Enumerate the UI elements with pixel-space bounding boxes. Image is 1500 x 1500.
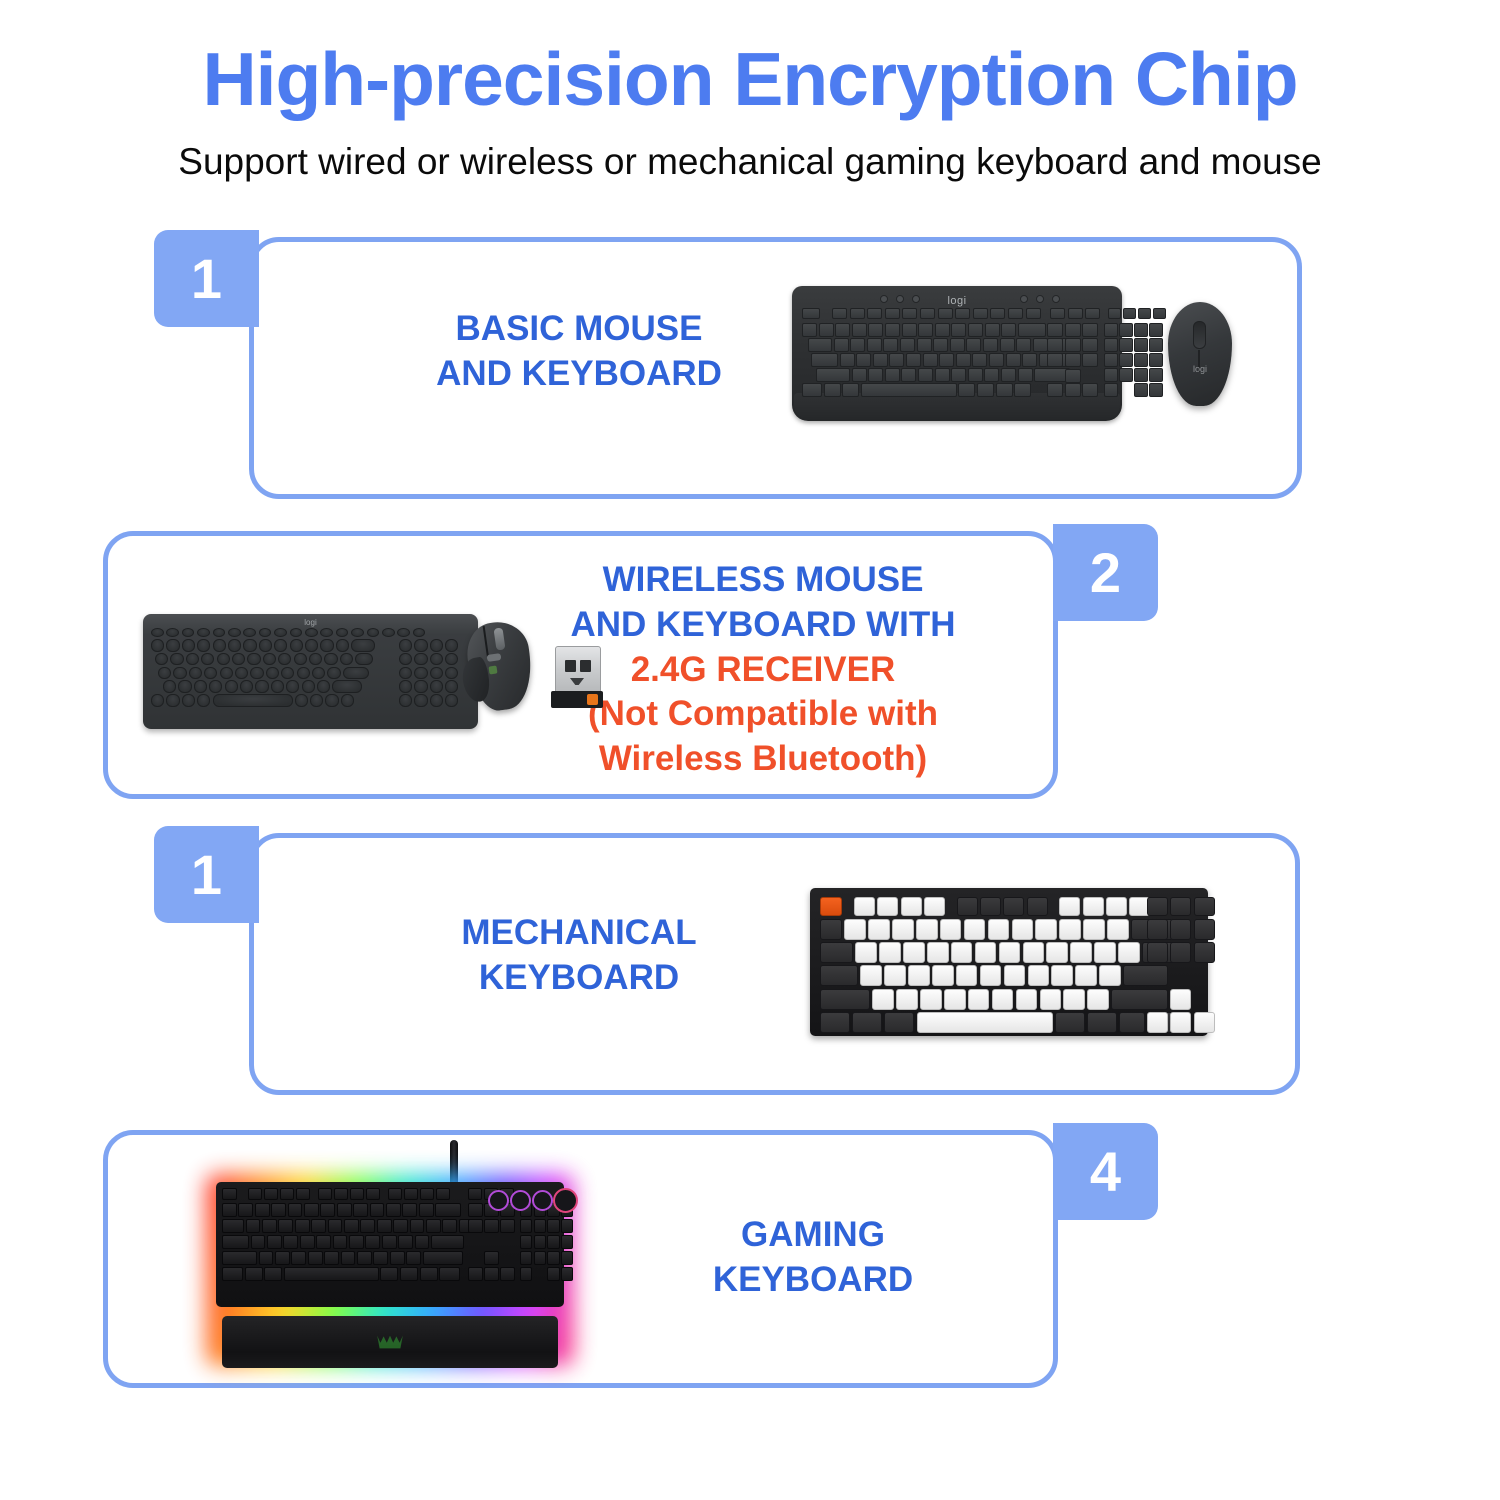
keyboard-key: [178, 680, 191, 693]
keyboard-key: [951, 942, 973, 963]
keyboard-key: [1106, 897, 1127, 916]
keyboard-key: [266, 667, 279, 680]
mechanical-keyboard-image: [810, 888, 1208, 1036]
keyboard-key: [824, 383, 841, 397]
keyboard-key: [341, 694, 354, 707]
feature-card-gaming: GAMING KEYBOARD 4: [103, 1130, 1058, 1388]
logi-wordmark: logi: [947, 295, 966, 307]
keyboard-key: [1118, 942, 1140, 963]
usb-contact-slot: [580, 660, 591, 672]
keyboard-key: [351, 639, 375, 652]
keyboard-key: [1119, 368, 1133, 382]
keyboard-key: [924, 897, 945, 916]
keyboard-key: [382, 628, 395, 637]
keyboard-key: [1170, 897, 1191, 916]
keyboard-key: [917, 338, 932, 352]
keyboard-key: [935, 368, 950, 382]
keyboard-key: [1147, 897, 1168, 916]
keyboard-key: [222, 1251, 257, 1265]
keyboard-key: [977, 383, 994, 397]
keyboard-key: [834, 338, 849, 352]
keyboard-key: [1035, 919, 1057, 940]
keyboard-key: [217, 653, 230, 666]
keyboard-key: [468, 1267, 483, 1281]
basic-keyboard-image: logi: [792, 286, 1122, 421]
keyboard-key: [861, 383, 957, 397]
keyboard-key: [1170, 942, 1191, 963]
keyboard-key: [275, 1251, 290, 1265]
keyboard-key: [903, 942, 925, 963]
keyboard-key: [410, 1219, 425, 1233]
keyboard-key: [996, 383, 1013, 397]
keyboard-key: [999, 942, 1021, 963]
keyboard-key: [951, 368, 966, 382]
keyboard-key: [1068, 308, 1083, 319]
keyboard-key: [393, 1219, 408, 1233]
keyboard-key: [349, 1235, 364, 1249]
keyboard-key: [274, 639, 287, 652]
mouse-scroll-wheel: [1193, 321, 1206, 349]
keyboard-key: [885, 308, 900, 319]
keyboard-key: [414, 653, 427, 666]
keyboard-key: [855, 942, 877, 963]
card-2-label-line-2: AND KEYBOARD WITH: [563, 603, 963, 648]
keyboard-key: [419, 1203, 434, 1217]
keyboard-key: [885, 368, 900, 382]
card-1-label: BASIC MOUSE AND KEYBOARD: [364, 307, 794, 397]
keyboard-key: [1016, 338, 1031, 352]
razer-logo-icon: [373, 1334, 407, 1350]
keyboard-key: [1055, 1012, 1085, 1033]
usb-connector-shell: [555, 646, 601, 694]
keyboard-key: [889, 353, 904, 367]
keyboard-key: [406, 1251, 421, 1265]
keyboard-key: [430, 680, 443, 693]
keyboard-key: [1194, 942, 1215, 963]
card-4-label-line-1: GAMING: [613, 1213, 1013, 1258]
keyboard-key: [305, 639, 318, 652]
keyboard-key: [445, 694, 458, 707]
keyboard-key: [1040, 989, 1062, 1010]
keyboard-key: [400, 1267, 418, 1281]
wireless-mouse-image: [463, 618, 541, 714]
keyboard-key: [334, 1188, 348, 1200]
keyboard-key: [370, 1203, 385, 1217]
keyboard-key: [1104, 383, 1118, 397]
keyboard-key: [430, 639, 443, 652]
keyboard-key: [980, 965, 1002, 986]
keyboard-key: [816, 368, 850, 382]
keyboard-key: [1123, 308, 1136, 319]
keyboard-key: [343, 667, 369, 680]
card-4-label: GAMING KEYBOARD: [613, 1213, 1013, 1303]
keyboard-key: [972, 353, 987, 367]
keyboard-key: [1001, 368, 1016, 382]
usb-receiver-image: [551, 646, 603, 708]
keyboard-key: [271, 680, 284, 693]
keyboard-key: [1104, 338, 1118, 352]
keyboard-key: [189, 667, 202, 680]
keyboard-key: [852, 323, 867, 337]
keyboard-key: [390, 1251, 405, 1265]
keyboard-key: [808, 338, 832, 352]
keyboard-key: [442, 1219, 457, 1233]
keyboard-key: [1104, 353, 1118, 367]
keyboard-key: [324, 653, 337, 666]
keyboard-key: [222, 1203, 237, 1217]
keyboard-key: [958, 383, 975, 397]
keyboard-key: [435, 1203, 461, 1217]
keyboard-key: [246, 1219, 261, 1233]
keyboard-key: [166, 639, 179, 652]
keyboard-key: [819, 323, 834, 337]
keyboard-key: [1065, 369, 1081, 383]
keyboard-key: [399, 639, 412, 652]
volume-dial-icon: [553, 1188, 578, 1213]
keyboard-key: [377, 1219, 392, 1233]
keyboard-key: [885, 323, 900, 337]
keyboard-key: [802, 383, 822, 397]
keyboard-key: [1065, 323, 1081, 337]
card-2-badge-number: 2: [1090, 545, 1121, 601]
keyboard-key: [243, 628, 256, 637]
keyboard-key: [350, 1188, 364, 1200]
feature-card-wireless: WIRELESS MOUSE AND KEYBOARD WITH 2.4G RE…: [103, 531, 1058, 799]
keyboard-key: [968, 989, 990, 1010]
indicator-led: [896, 295, 904, 303]
keyboard-key: [1170, 919, 1191, 940]
keyboard-key: [468, 1188, 482, 1200]
keyboard-key: [290, 628, 303, 637]
keyboard-key: [225, 680, 238, 693]
keyboard-key: [426, 1219, 441, 1233]
keyboard-key: [990, 308, 1005, 319]
card-4-number-badge: 4: [1053, 1123, 1158, 1220]
keyboard-key: [344, 1219, 359, 1233]
keyboard-key: [561, 1251, 573, 1265]
keyboard-key: [1001, 323, 1016, 337]
keyboard-key: [353, 1203, 368, 1217]
keyboard-key: [151, 628, 164, 637]
keyboard-key: [900, 338, 915, 352]
keyboard-key: [547, 1219, 559, 1233]
keyboard-key: [297, 667, 310, 680]
feature-card-basic: BASIC MOUSE AND KEYBOARD logi logi 1: [249, 237, 1302, 499]
keyboard-key: [1194, 897, 1215, 916]
keyboard-key: [247, 653, 260, 666]
keyboard-key: [1134, 323, 1148, 337]
keyboard-key: [854, 897, 875, 916]
keyboard-key: [197, 694, 210, 707]
keyboard-key: [439, 1267, 460, 1281]
keyboard-key: [318, 1188, 332, 1200]
keyboard-key: [852, 1012, 882, 1033]
mouse-shell: [1168, 302, 1232, 406]
keyboard-key: [992, 989, 1014, 1010]
keyboard-key: [966, 338, 981, 352]
keyboard-key: [877, 897, 898, 916]
keyboard-key: [520, 1235, 532, 1249]
keyboard-key: [896, 989, 918, 1010]
keyboard-key: [245, 1267, 263, 1281]
keyboard-key: [228, 628, 241, 637]
keyboard-key: [305, 628, 318, 637]
keyboard-key: [917, 1012, 1053, 1033]
keyboard-key: [956, 353, 971, 367]
card-2-label-line-1: WIRELESS MOUSE: [563, 558, 963, 603]
keyboard-key: [366, 1188, 380, 1200]
keyboard-key: [1099, 965, 1121, 986]
keyboard-key: [884, 1012, 914, 1033]
card-3-label-line-2: KEYBOARD: [364, 956, 794, 1001]
keyboard-key: [547, 1235, 559, 1249]
keyboard-key: [520, 1219, 532, 1233]
keyboard-key: [534, 1235, 546, 1249]
keyboard-key: [1194, 919, 1215, 940]
keyboard-key: [304, 1203, 319, 1217]
keyboard-key: [920, 308, 935, 319]
keyboard-key: [1070, 942, 1092, 963]
keyboard-key: [983, 338, 998, 352]
logi-wordmark: logi: [1193, 364, 1207, 374]
indicator-led: [1036, 295, 1044, 303]
keyboard-key: [267, 1235, 282, 1249]
keyboard-key: [802, 323, 817, 337]
card-4-label-line-2: KEYBOARD: [613, 1258, 1013, 1303]
card-2-label-line-5: Wireless Bluetooth): [563, 737, 963, 782]
keyboard-key: [1149, 338, 1163, 352]
keyboard-key: [902, 323, 917, 337]
keyboard-key: [1033, 338, 1048, 352]
keyboard-key: [194, 680, 207, 693]
keyboard-key: [1075, 965, 1097, 986]
keyboard-key: [1085, 308, 1100, 319]
keyboard-key: [355, 653, 373, 666]
usb-contact-slot: [565, 660, 576, 672]
keyboard-key: [430, 694, 443, 707]
keyboard-key: [1083, 897, 1104, 916]
keyboard-key: [1119, 353, 1133, 367]
keyboard-key: [820, 919, 842, 940]
keyboard-key: [868, 323, 883, 337]
keyboard-key: [1147, 942, 1168, 963]
keyboard-key: [980, 897, 1001, 916]
card-3-number-badge: 1: [154, 826, 259, 923]
keyboard-key: [879, 942, 901, 963]
keyboard-key: [1046, 942, 1068, 963]
keyboard-key: [1050, 308, 1065, 319]
keyboard-key: [968, 323, 983, 337]
keyboard-key: [1082, 383, 1098, 397]
keyboard-key: [1014, 383, 1031, 397]
keyboard-key: [284, 1267, 379, 1281]
keyboard-key: [1087, 989, 1109, 1010]
keyboard-key: [1149, 323, 1163, 337]
keyboard-key: [939, 353, 954, 367]
keyboard-key: [255, 680, 268, 693]
keyboard-key: [337, 1203, 352, 1217]
keyboard-key: [300, 1235, 315, 1249]
keyboard-key: [884, 965, 906, 986]
keyboard-key: [1004, 965, 1026, 986]
indicator-led: [912, 295, 920, 303]
keyboard-key: [357, 1251, 372, 1265]
keyboard-key: [414, 680, 427, 693]
keyboard-key: [901, 368, 916, 382]
media-button-icon: [488, 1190, 509, 1211]
keyboard-key: [867, 308, 882, 319]
keyboard-key: [250, 667, 263, 680]
indicator-led: [880, 295, 888, 303]
keyboard-key: [985, 323, 1000, 337]
keyboard-key: [484, 1267, 499, 1281]
keyboard-key: [1134, 338, 1148, 352]
keyboard-key: [320, 639, 333, 652]
keyboard-key: [1047, 323, 1063, 337]
keyboard-key: [1000, 338, 1015, 352]
keyboard-key: [832, 308, 847, 319]
keyboard-key: [399, 694, 412, 707]
keyboard-key: [302, 680, 315, 693]
keyboard-key: [1016, 989, 1038, 1010]
keyboard-key: [182, 639, 195, 652]
keyboard-key: [238, 1203, 253, 1217]
keyboard-key: [197, 628, 210, 637]
keyboard-key: [320, 1203, 335, 1217]
keyboard-key: [1170, 989, 1191, 1010]
keyboard-key: [920, 989, 942, 1010]
keyboard-key: [1123, 965, 1168, 986]
keyboard-key: [918, 368, 933, 382]
keyboard-key: [867, 338, 882, 352]
keyboard-key: [1119, 1012, 1145, 1033]
keyboard-key: [197, 639, 210, 652]
keyboard-key: [248, 1188, 262, 1200]
keyboard-key: [950, 338, 965, 352]
keyboard-key: [500, 1267, 515, 1281]
media-button-icon: [532, 1190, 553, 1211]
keyboard-key: [222, 1219, 244, 1233]
keyboard-key: [856, 353, 871, 367]
keyboard-key: [984, 368, 999, 382]
keyboard-key: [1051, 965, 1073, 986]
keyboard-key: [561, 1235, 573, 1249]
keyboard-key: [561, 1219, 573, 1233]
keyboard-key: [316, 1235, 331, 1249]
keyboard-key: [820, 897, 842, 916]
keyboard-key: [1018, 323, 1046, 337]
keyboard-key: [1018, 368, 1033, 382]
keyboard-key: [850, 308, 865, 319]
card-2-label-line-3: 2.4G RECEIVER: [563, 648, 963, 693]
keyboard-key: [380, 1267, 398, 1281]
keyboard-key: [255, 1203, 270, 1217]
keyboard-key: [228, 639, 241, 652]
keyboard-key: [500, 1219, 515, 1233]
keyboard-key: [901, 897, 922, 916]
keyboard-key: [404, 1188, 418, 1200]
keyboard-key: [327, 667, 340, 680]
keyboard-key: [1026, 308, 1041, 319]
keyboard-key: [850, 338, 865, 352]
keyboard-key: [1094, 942, 1116, 963]
card-1-label-line-1: BASIC MOUSE: [364, 307, 794, 352]
keyboard-key: [1047, 338, 1063, 352]
keyboard-key: [1065, 338, 1081, 352]
keyboard-key: [278, 1219, 293, 1233]
keyboard-key: [923, 353, 938, 367]
keyboard-key: [251, 1235, 266, 1249]
keyboard-key: [1108, 308, 1121, 319]
keyboard-key: [290, 639, 303, 652]
keyboard-key: [868, 368, 883, 382]
keyboard-key: [1149, 383, 1163, 397]
basic-mouse-image: logi: [1164, 302, 1236, 406]
keyboard-key: [468, 1203, 483, 1217]
keyboard-key: [280, 1188, 294, 1200]
card-1-badge-number: 1: [191, 251, 222, 307]
keyboard-key: [844, 919, 866, 940]
keyboard-key: [1194, 1012, 1215, 1033]
keyboard-key: [423, 1251, 463, 1265]
keyboard-key: [415, 1235, 430, 1249]
keyboard-key: [382, 1235, 397, 1249]
keyboard-key: [365, 1235, 380, 1249]
keyboard-key: [935, 323, 950, 337]
keyboard-key: [373, 1251, 388, 1265]
keyboard-key: [860, 965, 882, 986]
keyboard-key: [1107, 919, 1129, 940]
keyboard-key: [484, 1251, 499, 1265]
keyboard-key: [1147, 1012, 1168, 1033]
keyboard-key: [222, 1267, 243, 1281]
keyboard-key: [927, 942, 949, 963]
keyboard-key: [975, 942, 997, 963]
keyboard-key: [333, 1235, 348, 1249]
card-2-number-badge: 2: [1053, 524, 1158, 621]
keyboard-key: [918, 323, 933, 337]
keyboard-key: [1063, 989, 1085, 1010]
keyboard-key: [213, 639, 226, 652]
keyboard-key: [436, 1188, 450, 1200]
keyboard-key: [852, 368, 867, 382]
keyboard-key: [430, 667, 443, 680]
card-4-badge-number: 4: [1090, 1144, 1121, 1200]
keyboard-key: [1138, 308, 1151, 319]
wrist-rest: [222, 1316, 558, 1368]
card-2-label: WIRELESS MOUSE AND KEYBOARD WITH 2.4G RE…: [563, 558, 963, 782]
keyboard-key: [1082, 353, 1098, 367]
keyboard-key: [908, 965, 930, 986]
keyboard-key: [294, 653, 307, 666]
keyboard-key: [1027, 897, 1048, 916]
keyboard-key: [220, 667, 233, 680]
keyboard-key: [398, 1235, 413, 1249]
keyboard-key: [1111, 989, 1168, 1010]
keyboard-key: [892, 919, 914, 940]
keyboard-key: [933, 338, 948, 352]
keyboard-key: [1119, 338, 1133, 352]
keyboard-key: [872, 989, 894, 1010]
keyboard-key: [873, 353, 888, 367]
keyboard-key: [222, 1188, 237, 1200]
logi-wordmark: logi: [304, 618, 316, 627]
keyboard-key: [431, 1235, 464, 1249]
keyboard-key: [151, 639, 164, 652]
keyboard-key: [274, 628, 287, 637]
keyboard-key: [262, 1219, 277, 1233]
keyboard-key: [520, 1251, 532, 1265]
